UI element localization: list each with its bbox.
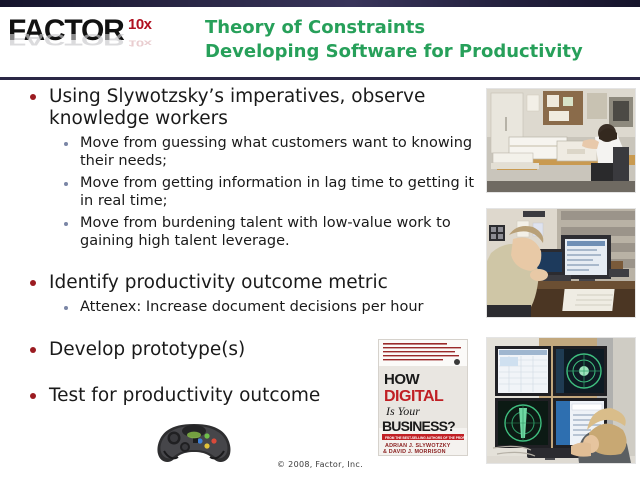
photo-office-worker-with-document-boxes bbox=[486, 88, 636, 193]
photo-3-artwork bbox=[487, 338, 635, 463]
bullet-item: Using Slywotzsky’s imperatives, observe … bbox=[22, 86, 477, 130]
svg-text:DIGITAL: DIGITAL bbox=[384, 388, 444, 405]
slide-title-line-1: Theory of Constraints bbox=[205, 16, 635, 40]
factor-10x-logo: FACTOR 10x FACTOR 10x bbox=[8, 16, 188, 72]
svg-text:Is Your: Is Your bbox=[385, 404, 420, 418]
photo-1-artwork bbox=[487, 89, 635, 192]
sub-bullet-item: Attenex: Increase document decisions per… bbox=[22, 299, 477, 317]
photo-analyst-at-multi-monitor-workstation bbox=[486, 337, 636, 464]
photo-2-artwork bbox=[487, 209, 635, 317]
svg-text:BUSINESS?: BUSINESS? bbox=[382, 418, 455, 434]
logo-reflection: FACTOR bbox=[8, 31, 124, 48]
book-cover-how-digital-is-your-business: HOW DIGITAL Is Your BUSINESS? FROM THE B… bbox=[378, 339, 468, 456]
book-cover-artwork: HOW DIGITAL Is Your BUSINESS? FROM THE B… bbox=[379, 340, 467, 455]
bullet-item: Identify productivity outcome metric bbox=[22, 272, 477, 294]
slide-canvas: FACTOR 10x FACTOR 10x Theory of Constrai… bbox=[0, 0, 640, 480]
logo-superscript: 10x bbox=[128, 17, 152, 32]
svg-text:FROM THE BEST-SELLING AUTHORS: FROM THE BEST-SELLING AUTHORS OF THE PRO… bbox=[385, 436, 467, 440]
svg-text:& DAVID J. MORRISON: & DAVID J. MORRISON bbox=[383, 449, 446, 455]
footer-copyright: © 2008, Factor, Inc. bbox=[0, 460, 640, 469]
spacer bbox=[22, 317, 477, 339]
slide-title-line-2: Developing Software for Productivity bbox=[205, 40, 635, 64]
header-divider-rule bbox=[0, 77, 640, 80]
sub-bullet-item: Move from guessing what customers want t… bbox=[22, 135, 477, 170]
top-accent-bar bbox=[0, 0, 640, 7]
sub-bullet-item: Move from getting information in lag tim… bbox=[22, 175, 477, 210]
photo-knowledge-worker-at-computer bbox=[486, 208, 636, 318]
spacer bbox=[22, 250, 477, 272]
svg-text:HOW: HOW bbox=[384, 371, 421, 388]
logo-reflection-superscript: 10x bbox=[128, 39, 152, 47]
slide-title: Theory of Constraints Developing Softwar… bbox=[205, 16, 635, 64]
sub-bullet-item: Move from burdening talent with low-valu… bbox=[22, 215, 477, 250]
